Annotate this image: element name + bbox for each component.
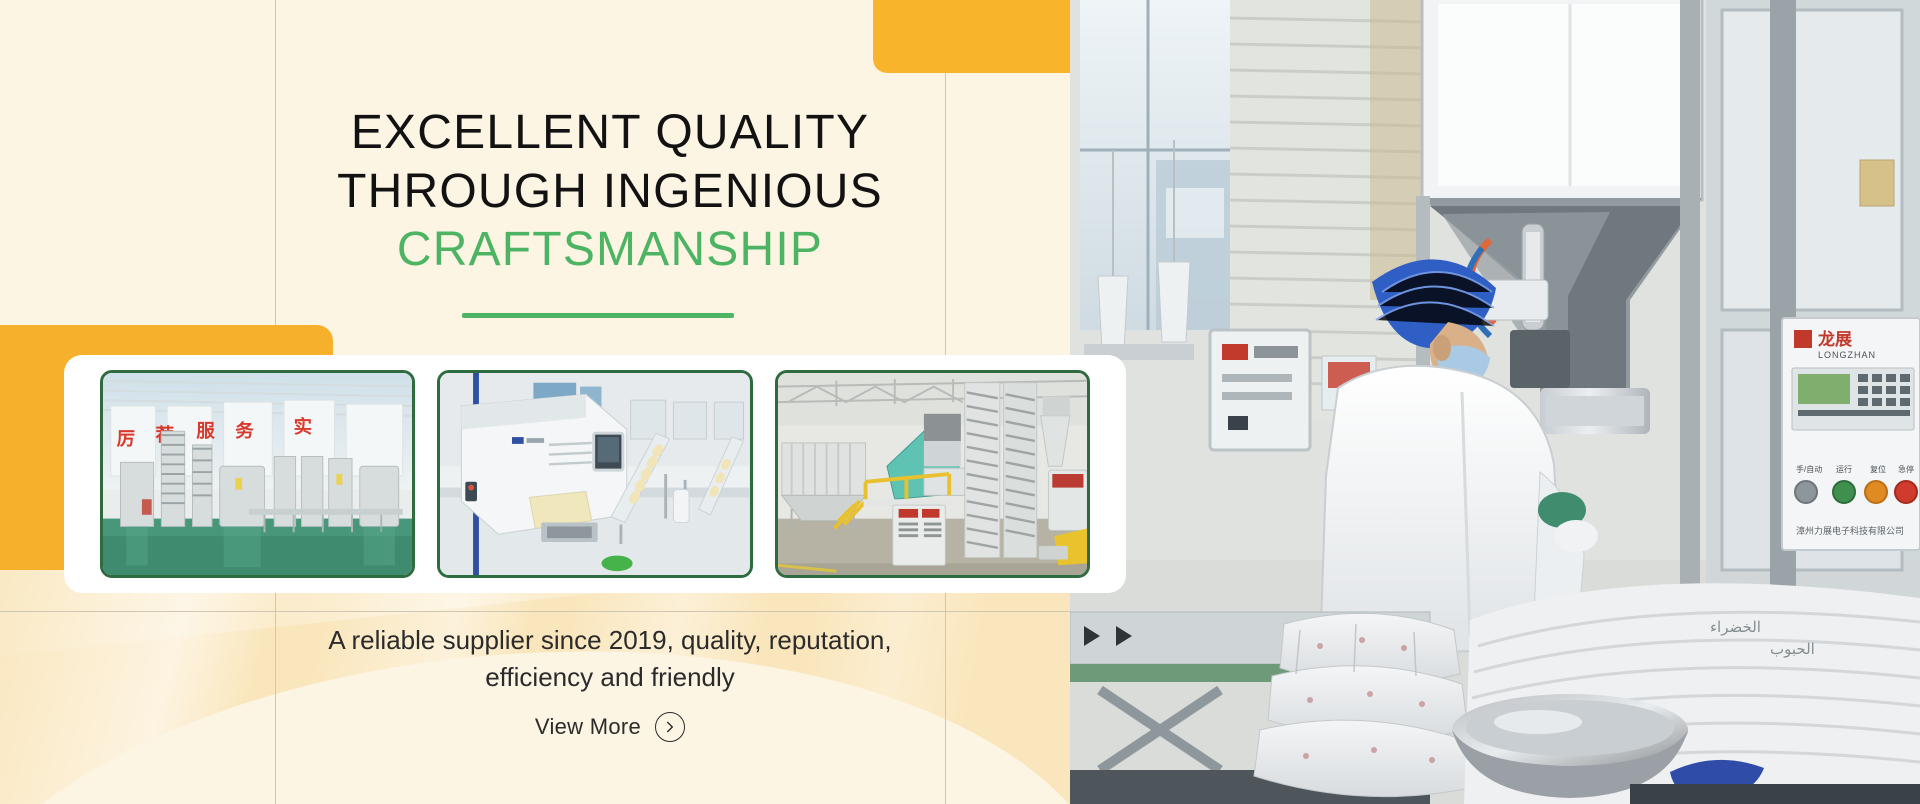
thumbnail-rice-mill-plant-image: [778, 373, 1087, 575]
svg-text:急停: 急停: [1898, 464, 1914, 474]
orange-decorative-block-top-right: [873, 0, 1070, 73]
headline-line-2: THROUGH INGENIOUS: [275, 163, 945, 222]
hero-banner: EXCELLENT QUALITY THROUGH INGENIOUS CRAF…: [0, 0, 1920, 804]
tagline-text: A reliable supplier since 2019, quality,…: [275, 622, 945, 696]
svg-text:الخضراء: الخضراء: [1710, 619, 1761, 636]
svg-text:厉: 厉: [117, 428, 135, 449]
view-more-button[interactable]: View More: [275, 712, 945, 742]
gallery-card: 厉荐服 务实: [64, 355, 1126, 593]
thumbnail-color-sorter-machine-image: [440, 373, 749, 575]
view-more-label: View More: [535, 714, 641, 740]
svg-text:实: 实: [294, 416, 312, 437]
headline-line-1: EXCELLENT QUALITY: [275, 104, 945, 163]
thumbnail-color-sorter-machine[interactable]: [437, 370, 752, 578]
green-divider-bar: [462, 313, 734, 318]
svg-text:运行: 运行: [1836, 464, 1852, 474]
headline-line-3-accent: CRAFTSMANSHIP: [275, 221, 945, 280]
thumbnail-factory-production-line[interactable]: 厉荐服 务实: [100, 370, 415, 578]
headline: EXCELLENT QUALITY THROUGH INGENIOUS CRAF…: [275, 104, 945, 280]
svg-text:服: 服: [196, 420, 215, 441]
svg-text:الحبوب: الحبوب: [1770, 641, 1815, 658]
svg-text:复位: 复位: [1870, 464, 1886, 474]
svg-text:龙展: 龙展: [1817, 329, 1852, 349]
thumbnail-factory-production-line-image: 厉荐服 务实: [103, 373, 412, 575]
svg-text:手/自动: 手/自动: [1796, 464, 1822, 474]
svg-text:务: 务: [235, 420, 254, 441]
chevron-right-circle-icon: [655, 712, 685, 742]
thumbnail-rice-mill-plant[interactable]: [775, 370, 1090, 578]
factory-worker-packing-station: 龙展 LONGZHAN 手/自动运行 复位急停: [1070, 0, 1920, 804]
factory-worker-packing-station-image: 龙展 LONGZHAN 手/自动运行 复位急停: [1070, 0, 1920, 804]
svg-text:漳州力展电子科技有限公司: 漳州力展电子科技有限公司: [1796, 525, 1904, 536]
grid-horizontal-line: [0, 611, 1070, 612]
svg-text:LONGZHAN: LONGZHAN: [1818, 350, 1876, 360]
